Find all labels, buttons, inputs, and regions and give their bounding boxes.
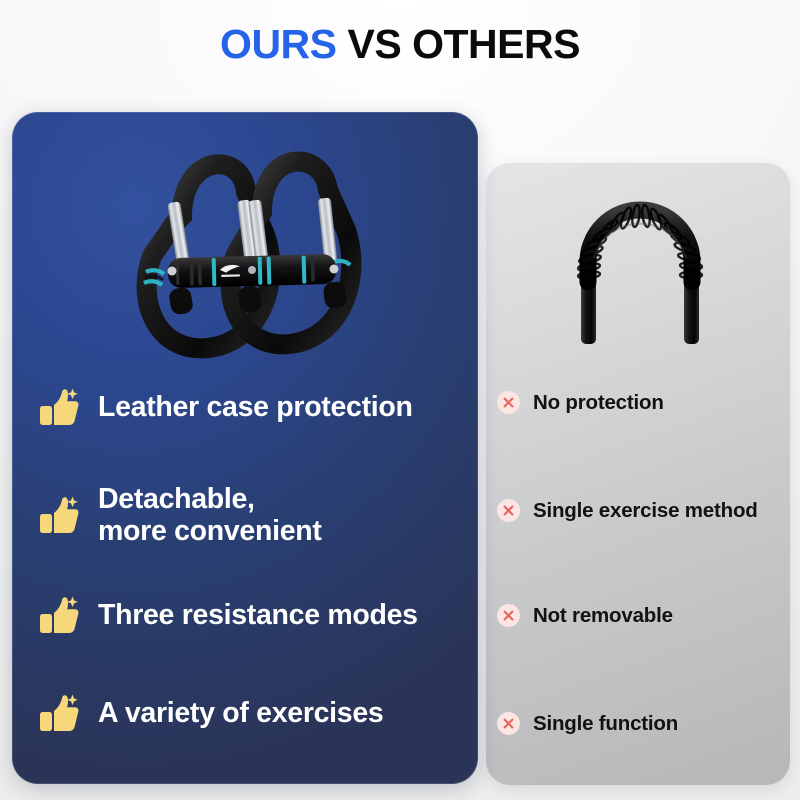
list-item[interactable]: A variety of exercises bbox=[37, 692, 467, 736]
x-circle-icon bbox=[496, 711, 521, 736]
list-item[interactable]: Detachable, more convenient bbox=[37, 484, 467, 548]
list-item-label: Single function bbox=[533, 712, 678, 736]
thumbs-up-icon bbox=[37, 594, 81, 638]
page-title: OURSVS OTHERS bbox=[220, 24, 580, 65]
list-item-label: Not removable bbox=[533, 604, 673, 628]
thumbs-up-icon bbox=[37, 494, 81, 538]
x-circle-icon bbox=[496, 603, 521, 628]
list-item[interactable]: Single exercise method bbox=[496, 498, 790, 523]
ours-product-image bbox=[112, 120, 372, 370]
page-header: OURSVS OTHERS bbox=[0, 24, 800, 65]
title-highlight: OURS bbox=[220, 21, 336, 67]
x-circle-icon bbox=[496, 498, 521, 523]
list-item[interactable]: Single function bbox=[496, 711, 790, 736]
list-item[interactable]: Three resistance modes bbox=[37, 594, 467, 638]
list-item[interactable]: Not removable bbox=[496, 603, 790, 628]
thumbs-up-icon bbox=[37, 386, 81, 430]
list-item-label: Leather case protection bbox=[98, 392, 413, 424]
list-item-label: Single exercise method bbox=[533, 499, 758, 523]
list-item[interactable]: Leather case protection bbox=[37, 386, 467, 430]
comparison-infographic: OURSVS OTHERS bbox=[0, 0, 800, 800]
list-item-label: Three resistance modes bbox=[98, 600, 418, 632]
title-rest: VS OTHERS bbox=[348, 21, 580, 67]
list-item-label: Detachable, more convenient bbox=[98, 484, 322, 548]
others-product-image bbox=[556, 178, 724, 344]
list-item-label: No protection bbox=[533, 391, 664, 415]
x-circle-icon bbox=[496, 390, 521, 415]
list-item[interactable]: No protection bbox=[496, 390, 790, 415]
list-item-label: A variety of exercises bbox=[98, 698, 383, 730]
thumbs-up-icon bbox=[37, 692, 81, 736]
